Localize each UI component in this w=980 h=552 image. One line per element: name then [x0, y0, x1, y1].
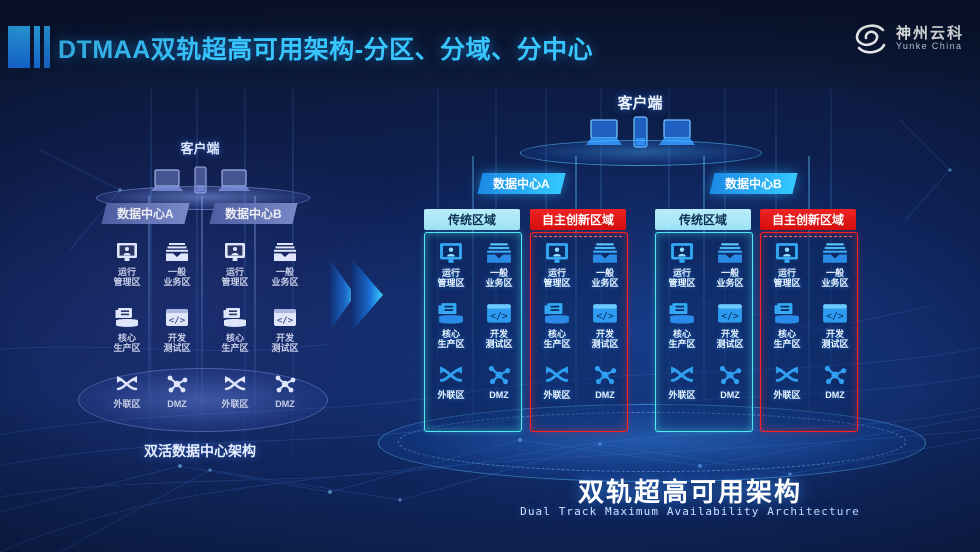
stacked-tray-icon: [717, 241, 743, 265]
zone-label: 核心 生产区: [113, 333, 140, 353]
zone-label: 外联区: [543, 390, 570, 400]
left-dc-b-zone-grid: 运行 管理区 一般 业务区 核心 生产区 </> 开发 测试区: [212, 240, 308, 409]
zone-label: 外联区: [773, 390, 800, 400]
zone-label: 开发 测试区: [821, 329, 848, 349]
stacked-tray-icon: [592, 241, 618, 265]
code-window-icon: </>: [717, 302, 743, 326]
network-nodes-icon: [592, 363, 618, 387]
zone-label: DMZ: [720, 390, 740, 400]
zone-cell-yunxing-guanli[interactable]: 运行 管理区: [212, 240, 258, 287]
monitor-person-icon: [438, 241, 464, 265]
column-header-innovation-b[interactable]: 自主创新区域: [760, 209, 856, 230]
left-dc-a-badge[interactable]: 数据中心A: [101, 203, 189, 224]
database-stack-icon: [438, 302, 464, 326]
network-nodes-icon: [164, 372, 190, 396]
page-title: DTMAA双轨超高可用架构-分区、分域、分中心: [58, 28, 593, 68]
zone-label: 外联区: [113, 399, 140, 409]
right-dc-b-badge[interactable]: 数据中心B: [709, 173, 797, 194]
zone-cell-wailian[interactable]: 外联区: [104, 372, 150, 409]
code-window-icon: </>: [486, 302, 512, 326]
accent-block-icon: [8, 26, 30, 68]
database-stack-icon: [544, 302, 570, 326]
zone-cell-wailian[interactable]: 外联区: [764, 363, 810, 400]
crossing-arrows-icon: [544, 363, 570, 387]
brand-name-cn: 神州云科: [896, 26, 964, 42]
code-window-icon: </>: [592, 302, 618, 326]
zone-label: 运行 管理区: [668, 268, 695, 288]
zone-label: 一般 业务区: [591, 268, 618, 288]
zone-label: 核心 生产区: [437, 329, 464, 349]
code-window-icon: </>: [822, 302, 848, 326]
network-nodes-icon: [486, 363, 512, 387]
stacked-tray-icon: [164, 240, 190, 264]
column-header-innovation-a[interactable]: 自主创新区域: [530, 209, 626, 230]
zone-cell-hexin-shengchan[interactable]: 核心 生产区: [764, 302, 810, 349]
zone-cell-kaifa-ceshi[interactable]: </> 开发 测试区: [812, 302, 858, 349]
zone-label: 外联区: [221, 399, 248, 409]
zone-label: DMZ: [595, 390, 615, 400]
crossing-arrows-icon: [222, 372, 248, 396]
main-architecture-subtitle: Dual Track Maximum Availability Architec…: [400, 505, 980, 518]
crossing-arrows-icon: [438, 363, 464, 387]
database-stack-icon: [222, 306, 248, 330]
monitor-person-icon: [774, 241, 800, 265]
zone-grid-traditional-b: 运行 管理区 一般 业务区 核心 生产区 </> 开发 测试区: [659, 241, 747, 400]
zone-cell-dmz[interactable]: DMZ: [582, 363, 628, 400]
zone-cell-yiban-yewu[interactable]: 一般 业务区: [582, 241, 628, 288]
left-dc-b-badge[interactable]: 数据中心B: [209, 203, 297, 224]
zone-label: 运行 管理区: [773, 268, 800, 288]
database-stack-icon: [114, 306, 140, 330]
zone-cell-wailian[interactable]: 外联区: [212, 372, 258, 409]
zone-cell-wailian[interactable]: 外联区: [428, 363, 474, 400]
zone-label: DMZ: [167, 399, 187, 409]
zone-cell-dmz[interactable]: DMZ: [812, 363, 858, 400]
zone-cell-hexin-shengchan[interactable]: 核心 生产区: [534, 302, 580, 349]
zone-label: 外联区: [668, 390, 695, 400]
zone-cell-dmz[interactable]: DMZ: [262, 372, 308, 409]
zone-label: 核心 生产区: [668, 329, 695, 349]
crossing-arrows-icon: [114, 372, 140, 396]
zone-cell-yiban-yewu[interactable]: 一般 业务区: [707, 241, 753, 288]
column-dash-divider-b: [764, 236, 852, 237]
slide-header-bar: DTMAA双轨超高可用架构-分区、分域、分中心 神州云科 Yunke China: [0, 0, 980, 88]
right-client-label: 客户端: [500, 92, 780, 113]
crossing-arrows-icon: [669, 363, 695, 387]
network-nodes-icon: [822, 363, 848, 387]
zone-grid-innovation-a: 运行 管理区 一般 业务区 核心 生产区 </> 开发 测试区: [534, 241, 622, 400]
main-architecture-title: 双轨超高可用架构: [400, 472, 980, 509]
zone-label: 一般 业务区: [163, 267, 190, 287]
zone-cell-kaifa-ceshi[interactable]: </> 开发 测试区: [476, 302, 522, 349]
zone-cell-yunxing-guanli[interactable]: 运行 管理区: [104, 240, 150, 287]
zone-label: 一般 业务区: [271, 267, 298, 287]
code-window-icon: </>: [272, 306, 298, 330]
brand-name-en: Yunke China: [896, 42, 964, 52]
monitor-person-icon: [669, 241, 695, 265]
accent-bar-2-icon: [44, 26, 50, 68]
zone-cell-yunxing-guanli[interactable]: 运行 管理区: [659, 241, 705, 288]
zone-label: 开发 测试区: [485, 329, 512, 349]
svg-text:</>: </>: [169, 316, 186, 326]
zone-cell-hexin-shengchan[interactable]: 核心 生产区: [428, 302, 474, 349]
zone-cell-dmz[interactable]: DMZ: [707, 363, 753, 400]
svg-text:</>: </>: [721, 311, 739, 322]
zone-cell-hexin-shengchan[interactable]: 核心 生产区: [104, 306, 150, 353]
brand-logo: 神州云科 Yunke China: [853, 22, 964, 56]
zone-label: 运行 管理区: [113, 267, 140, 287]
zone-label: 一般 业务区: [485, 268, 512, 288]
accent-bar-1-icon: [34, 26, 40, 68]
database-stack-icon: [669, 302, 695, 326]
stacked-tray-icon: [486, 241, 512, 265]
zone-label: 外联区: [437, 390, 464, 400]
zone-cell-yiban-yewu[interactable]: 一般 业务区: [812, 241, 858, 288]
zone-cell-yiban-yewu[interactable]: 一般 业务区: [262, 240, 308, 287]
zone-cell-kaifa-ceshi[interactable]: </> 开发 测试区: [707, 302, 753, 349]
zone-cell-kaifa-ceshi[interactable]: </> 开发 测试区: [582, 302, 628, 349]
svg-text:</>: </>: [490, 311, 508, 322]
stacked-tray-icon: [272, 240, 298, 264]
database-stack-icon: [774, 302, 800, 326]
zone-cell-hexin-shengchan[interactable]: 核心 生产区: [659, 302, 705, 349]
zone-label: DMZ: [825, 390, 845, 400]
zone-label: 一般 业务区: [821, 268, 848, 288]
zone-label: 运行 管理区: [543, 268, 570, 288]
column-header-traditional-b[interactable]: 传统区域: [655, 209, 751, 230]
zone-cell-dmz[interactable]: DMZ: [154, 372, 200, 409]
zone-label: 开发 测试区: [163, 333, 190, 353]
zone-label: 运行 管理区: [221, 267, 248, 287]
zone-label: 一般 业务区: [716, 268, 743, 288]
zone-cell-yunxing-guanli[interactable]: 运行 管理区: [534, 241, 580, 288]
crossing-arrows-icon: [774, 363, 800, 387]
zone-label: 开发 测试区: [271, 333, 298, 353]
column-header-traditional-a[interactable]: 传统区域: [424, 209, 520, 230]
zone-cell-yiban-yewu[interactable]: 一般 业务区: [476, 241, 522, 288]
network-nodes-icon: [272, 372, 298, 396]
zone-label: 运行 管理区: [437, 268, 464, 288]
double-chevron-right-icon: [325, 252, 393, 338]
code-window-icon: </>: [164, 306, 190, 330]
stacked-tray-icon: [822, 241, 848, 265]
zone-label: 核心 生产区: [221, 333, 248, 353]
network-nodes-icon: [717, 363, 743, 387]
zone-label: DMZ: [489, 390, 509, 400]
zone-cell-kaifa-ceshi[interactable]: </> 开发 测试区: [262, 306, 308, 353]
zone-cell-yiban-yewu[interactable]: 一般 业务区: [154, 240, 200, 287]
svg-text:</>: </>: [596, 311, 614, 322]
zone-label: 核心 生产区: [543, 329, 570, 349]
spiral-galaxy-logo-icon: [853, 22, 889, 56]
left-client-label: 客户端: [0, 138, 400, 157]
zone-cell-kaifa-ceshi[interactable]: </> 开发 测试区: [154, 306, 200, 353]
right-dc-a-badge[interactable]: 数据中心A: [477, 173, 565, 194]
monitor-person-icon: [114, 240, 140, 264]
zone-cell-wailian[interactable]: 外联区: [659, 363, 705, 400]
monitor-person-icon: [544, 241, 570, 265]
zone-label: 开发 测试区: [716, 329, 743, 349]
zone-label: 开发 测试区: [591, 329, 618, 349]
zone-cell-yunxing-guanli[interactable]: 运行 管理区: [428, 241, 474, 288]
zone-cell-hexin-shengchan[interactable]: 核心 生产区: [212, 306, 258, 353]
zone-cell-wailian[interactable]: 外联区: [534, 363, 580, 400]
zone-grid-innovation-b: 运行 管理区 一般 业务区 核心 生产区 </> 开发 测试区: [764, 241, 852, 400]
zone-cell-yunxing-guanli[interactable]: 运行 管理区: [764, 241, 810, 288]
left-diagram-caption: 双活数据中心架构: [0, 441, 400, 461]
svg-text:</>: </>: [826, 311, 844, 322]
slide-canvas: DTMAA双轨超高可用架构-分区、分域、分中心 神州云科 Yunke China…: [0, 0, 980, 552]
left-dc-a-zone-grid: 运行 管理区 一般 业务区 核心 生产区 </> 开发 测试区: [104, 240, 200, 409]
svg-text:</>: </>: [277, 316, 294, 326]
header-accent-bars: [8, 26, 50, 68]
column-dash-divider-a: [534, 236, 622, 237]
monitor-person-icon: [222, 240, 248, 264]
zone-grid-traditional-a: 运行 管理区 一般 业务区 核心 生产区 </> 开发 测试区: [428, 241, 516, 400]
zone-label: DMZ: [275, 399, 295, 409]
zone-cell-dmz[interactable]: DMZ: [476, 363, 522, 400]
zone-label: 核心 生产区: [773, 329, 800, 349]
